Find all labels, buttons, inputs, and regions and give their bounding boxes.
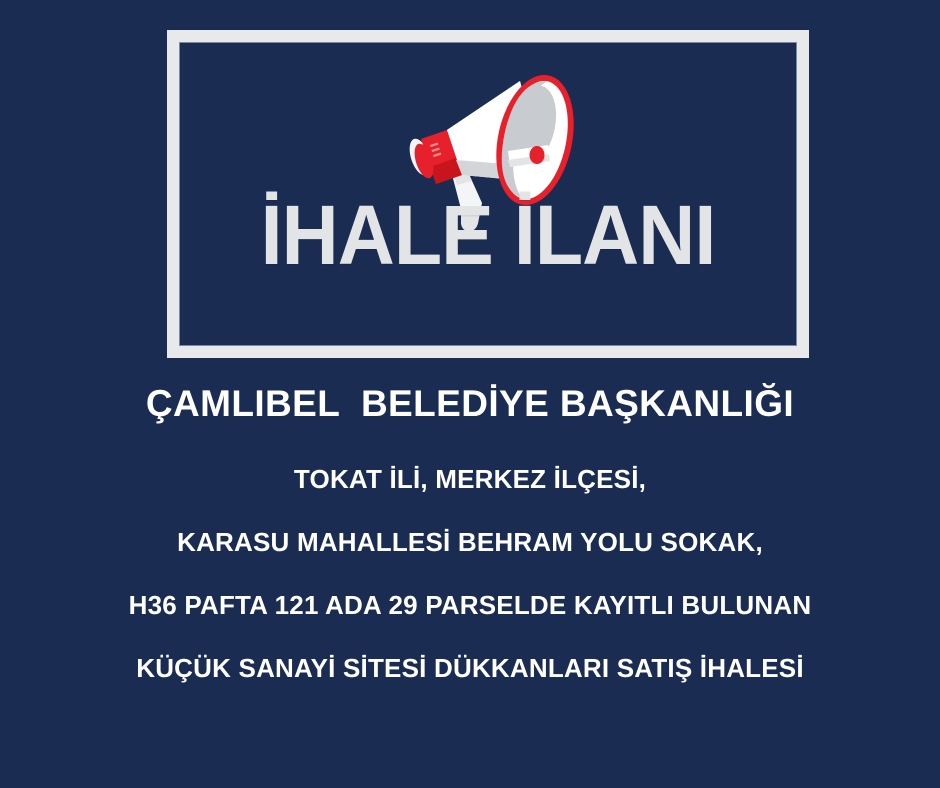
announcement-line: TOKAT İLİ, MERKEZ İLÇESİ, — [0, 466, 940, 529]
logo-wordmark: İHALE İLANI — [198, 193, 777, 277]
announcement-body: TOKAT İLİ, MERKEZ İLÇESİ, KARASU MAHALLE… — [0, 466, 940, 718]
announcement-line: KARASU MAHALLESİ BEHRAM YOLU SOKAK, — [0, 529, 940, 592]
ihale-ilani-poster: İHALE İLANI ÇAMLIBEL BELEDİYE BAŞKANLIĞI… — [0, 0, 940, 788]
page-title: ÇAMLIBEL BELEDİYE BAŞKANLIĞI — [0, 382, 940, 426]
logo-banner-frame: İHALE İLANI — [167, 30, 809, 358]
announcement-line: H36 PAFTA 121 ADA 29 PARSELDE KAYITLI BU… — [0, 592, 940, 655]
announcement-line: KÜÇÜK SANAYİ SİTESİ DÜKKANLARI SATIŞ İHA… — [0, 655, 940, 718]
logo-banner-inner: İHALE İLANI — [179, 42, 797, 346]
